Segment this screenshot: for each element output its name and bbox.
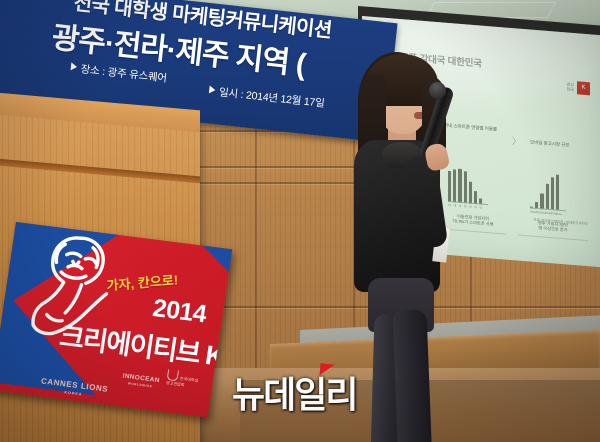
slide-brand-mark: K (577, 81, 590, 95)
watermark-text: 뉴데일리 (232, 366, 356, 418)
wall-seam (255, 120, 257, 370)
chart-tick-label: 60대 (474, 202, 477, 209)
bullet-triangle-icon (209, 85, 216, 94)
sign-year: 2014 (151, 294, 208, 329)
chart-bar (551, 177, 554, 209)
chevron-right-icon: 〉 (512, 134, 521, 148)
chart-tick-label: 2015 (551, 212, 554, 215)
slide-chart-3: 201120122013201420152016 (530, 156, 584, 218)
chart-tick-label: 2014 (546, 212, 549, 215)
chart-tick-label: 2012 (535, 211, 538, 214)
logo-innocean: INNOCEAN WORLDWIDE (120, 366, 161, 398)
slide-brand: 광고 한국 K (567, 80, 590, 95)
chart-bar (540, 193, 543, 208)
slide-step-label-3: 모바일 광고시장 규모 (530, 140, 570, 149)
banner-date-text: 일시 : 2014년 12월 17일 (218, 87, 325, 110)
slide-divider (518, 235, 588, 242)
chart-tick-label: 2016 (556, 213, 559, 216)
chart-bar (556, 175, 559, 210)
banner-date: 일시 : 2014년 12월 17일 (208, 83, 325, 110)
chart-tick-label: 2013 (540, 211, 543, 214)
chart-tick-label: 70대 (479, 202, 482, 209)
creative-k-sign: 가자, 칸으로! 2014 크리에이티브 K CANNES LIONS KORE… (0, 222, 232, 418)
photograph: 스마트폰 강대국 대한민국 광고 한국 K 스마트폰 보급률 〉 국내 스마트폰… (0, 0, 600, 442)
bullet-triangle-icon (71, 62, 78, 71)
chart-tick-label: 2011 (530, 211, 533, 214)
chart-bar (546, 184, 549, 209)
slide-brand-label: 광고 한국 (567, 82, 574, 92)
watermark: 뉴데일리 (232, 366, 382, 416)
logo-university-ad-association: 한국대학생 광고연합회 (166, 364, 200, 389)
